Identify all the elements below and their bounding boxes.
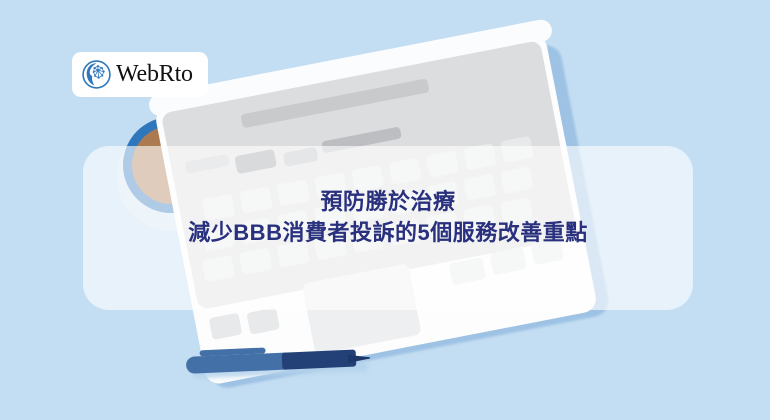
banner-canvas: 預防勝於治療 減少BBB消費者投訴的5個服務改善重點: [0, 0, 770, 420]
title-line-1: 預防勝於治療: [83, 186, 693, 217]
title-line-2: 減少BBB消費者投訴的5個服務改善重點: [83, 217, 693, 248]
pen-body: [282, 350, 357, 370]
brain-head-profile-icon: [82, 60, 111, 89]
page-title: 預防勝於治療 減少BBB消費者投訴的5個服務改善重點: [83, 186, 693, 248]
brand-name: WebRto: [116, 61, 193, 88]
brand-logo[interactable]: WebRto: [72, 52, 208, 97]
